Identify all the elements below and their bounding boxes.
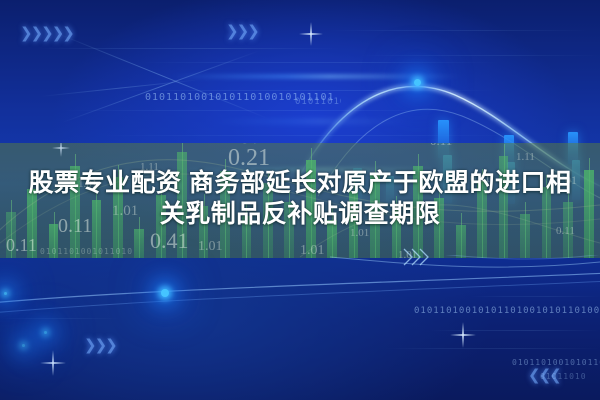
tech-rule xyxy=(0,318,120,319)
glow-dot xyxy=(22,344,25,347)
glow-node-lower xyxy=(161,289,169,297)
tech-rule xyxy=(470,296,600,297)
candle-number: 0.41 xyxy=(150,228,189,254)
candle-number: 1.11 xyxy=(516,151,535,163)
chevron-right-group-lower-left: ❯❯❯ xyxy=(84,336,116,354)
binary-strip-lower-2: 01011010010101101001010110 xyxy=(512,358,600,367)
sparkle-star-lower-right xyxy=(450,322,476,348)
sparkle-star-band xyxy=(52,143,70,157)
headline-line-1: 股票专业配资 商务部延长对原产于欧盟的进口相 xyxy=(0,168,600,199)
candle-number: 0.11 xyxy=(430,143,452,149)
headline-text: 股票专业配资 商务部延长对原产于欧盟的进口相 关乳制品反补贴调查期限 xyxy=(0,168,600,229)
tech-rule xyxy=(430,330,600,331)
binary-strip-lower-3: 01011010 xyxy=(540,372,600,381)
binary-strip-lower-1: 010110100101011010010101101001 xyxy=(414,306,600,316)
candle-number: 0.11 xyxy=(6,235,37,256)
sparkle-star-lower-left xyxy=(40,350,66,376)
glow-dot xyxy=(44,331,47,334)
tech-rule xyxy=(386,348,600,349)
glow-dot xyxy=(4,292,7,295)
sparkle-star-upper xyxy=(299,22,323,46)
glow-node-arc xyxy=(414,79,421,86)
curve-arrow-ticks xyxy=(398,245,518,285)
news-thumbnail-image: ❯❯❯❯❯ ❯❯❯ 010110100101011010010101101001… xyxy=(0,0,600,400)
headline-line-2: 关乳制品反补贴调查期限 xyxy=(0,199,600,230)
candle-number: 1.01 xyxy=(198,239,223,255)
